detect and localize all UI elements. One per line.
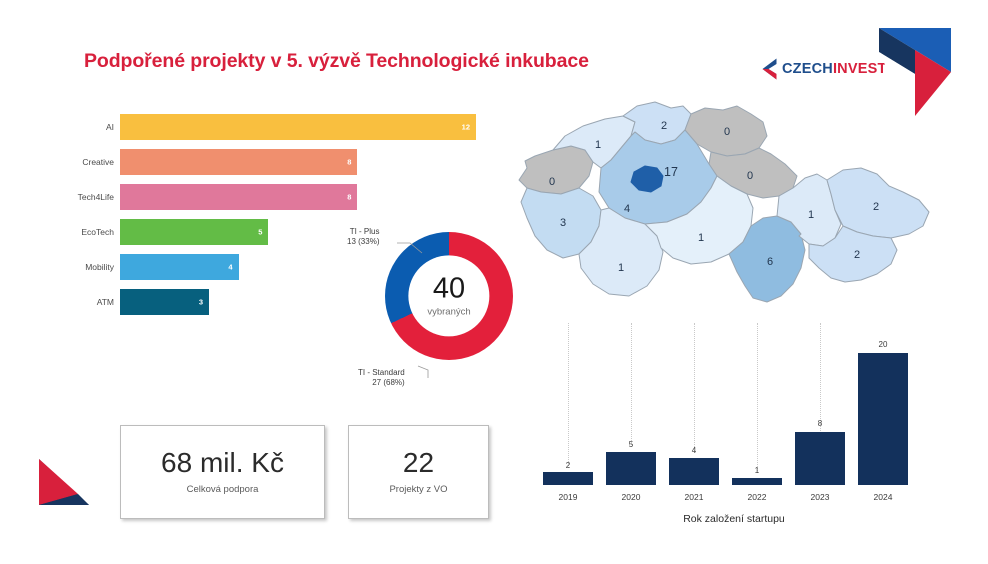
bar-category-label: Creative xyxy=(56,157,114,167)
bar-fill-tech4life: 8 xyxy=(120,184,357,210)
year-bar-2024 xyxy=(858,353,908,485)
bar-value-label: 8 xyxy=(347,158,351,167)
kpi-caption: Celková podpora xyxy=(187,484,259,495)
year-tick-label: 2022 xyxy=(748,492,767,502)
map-value-vysocina: 1 xyxy=(698,232,704,244)
year-bar-2019 xyxy=(543,472,593,485)
year-value-label: 20 xyxy=(879,340,888,349)
map-value-karlovarsky: 0 xyxy=(549,176,555,188)
bar-category-label: ATM xyxy=(56,297,114,307)
czechinvest-chevron-icon xyxy=(762,58,777,80)
bar-value-label: 8 xyxy=(347,193,351,202)
bar-value-label: 12 xyxy=(462,123,470,132)
year-value-label: 2 xyxy=(566,461,570,470)
map-value-plzensky: 3 xyxy=(560,217,566,229)
bar-value-label: 5 xyxy=(258,228,262,237)
bar-track: 8 xyxy=(120,149,476,175)
year-tick-label: 2020 xyxy=(622,492,641,502)
map-value-liberecky: 2 xyxy=(661,120,667,132)
year-bar-2020 xyxy=(606,452,656,485)
bar-track: 8 xyxy=(120,184,476,210)
page-title: Podpořené projekty v 5. výzvě Technologi… xyxy=(84,50,589,73)
region-karlovarsky xyxy=(519,146,593,194)
kpi-value: 22 xyxy=(403,449,434,477)
donut-total-value: 40 xyxy=(433,274,465,303)
map-value-stredocesky: 4 xyxy=(624,203,630,215)
donut-label-ti-plus: TI - Plus 13 (33%) xyxy=(347,227,379,247)
gridline xyxy=(820,323,821,431)
year-tick-label: 2023 xyxy=(811,492,830,502)
map-value-ustecky: 1 xyxy=(595,139,601,151)
map-value-jihomoravsky: 6 xyxy=(767,256,773,268)
map-value-moravskoslezsky: 2 xyxy=(873,201,879,213)
year-bar-2022 xyxy=(732,478,782,485)
year-bar-2023 xyxy=(795,432,845,485)
bar-value-label: 3 xyxy=(199,298,203,307)
gridline xyxy=(694,323,695,453)
donut-label-ti-standard-name: TI - Standard xyxy=(358,368,405,378)
czechinvest-logo: CZECHINVEST xyxy=(762,58,887,80)
year-value-label: 1 xyxy=(755,466,759,475)
kpi-caption: Projekty z VO xyxy=(389,484,447,495)
bar-fill-ecotech: 5 xyxy=(120,219,268,245)
bar-category-label: EcoTech xyxy=(56,227,114,237)
donut-label-ti-standard-value: 27 (68%) xyxy=(358,378,405,388)
kpi-card-projects-from-vo: 22 Projekty z VO xyxy=(348,425,489,519)
programme-donut-chart: 40 vybraných xyxy=(385,232,513,360)
kpi-value: 68 mil. Kč xyxy=(161,449,284,477)
kpi-card-total-support: 68 mil. Kč Celková podpora xyxy=(120,425,325,519)
map-value-zlinsky: 2 xyxy=(854,249,860,261)
year-axis-title: Rok založení startupu xyxy=(534,513,934,525)
bar-row: AI 12 xyxy=(56,114,476,140)
czech-regions-svg xyxy=(505,92,985,324)
year-value-label: 5 xyxy=(629,440,633,449)
year-bar-2021 xyxy=(669,458,719,485)
year-tick-label: 2024 xyxy=(874,492,893,502)
year-tick-label: 2019 xyxy=(559,492,578,502)
bar-value-label: 4 xyxy=(228,263,232,272)
map-value-kralovehradecky: 0 xyxy=(724,126,730,138)
logo-wordmark: CZECHINVEST xyxy=(782,62,887,77)
donut-label-ti-plus-value: 13 (33%) xyxy=(347,237,379,247)
map-value-praha: 17 xyxy=(664,165,678,179)
bar-category-label: Tech4Life xyxy=(56,192,114,202)
year-value-label: 8 xyxy=(818,419,822,428)
map-value-pardubicky: 0 xyxy=(747,170,753,182)
donut-center: 40 vybraných xyxy=(408,255,489,336)
gridline xyxy=(631,323,632,447)
donut-total-caption: vybraných xyxy=(427,306,470,317)
map-value-jihocesky: 1 xyxy=(618,262,624,274)
donut-label-ti-standard: TI - Standard 27 (68%) xyxy=(358,368,405,388)
bar-row: Tech4Life 8 xyxy=(56,184,476,210)
map-value-olomoucky: 1 xyxy=(808,209,814,221)
gridline xyxy=(568,323,569,468)
projects-by-region-map: 0 1 2 0 0 3 4 17 1 1 6 1 2 2 xyxy=(505,92,985,324)
gridline xyxy=(757,323,758,473)
year-tick-label: 2021 xyxy=(685,492,704,502)
year-value-label: 4 xyxy=(692,446,696,455)
bar-track: 12 xyxy=(120,114,476,140)
bar-category-label: Mobility xyxy=(56,262,114,272)
donut-label-ti-plus-name: TI - Plus xyxy=(347,227,379,237)
infographic-slide: Podpořené projekty v 5. výzvě Technologi… xyxy=(0,0,988,564)
bar-fill-atm: 3 xyxy=(120,289,209,315)
bar-fill-creative: 8 xyxy=(120,149,357,175)
startups-by-year-chart: 2 2019 5 2020 4 2021 1 2022 8 2023 20 20… xyxy=(534,305,934,527)
bar-fill-ai: 12 xyxy=(120,114,476,140)
logo-word-czech: CZECH xyxy=(782,61,833,77)
triangle-decoration xyxy=(36,455,92,507)
bar-row: Creative 8 xyxy=(56,149,476,175)
bar-category-label: AI xyxy=(56,122,114,132)
bar-fill-mobility: 4 xyxy=(120,254,239,280)
